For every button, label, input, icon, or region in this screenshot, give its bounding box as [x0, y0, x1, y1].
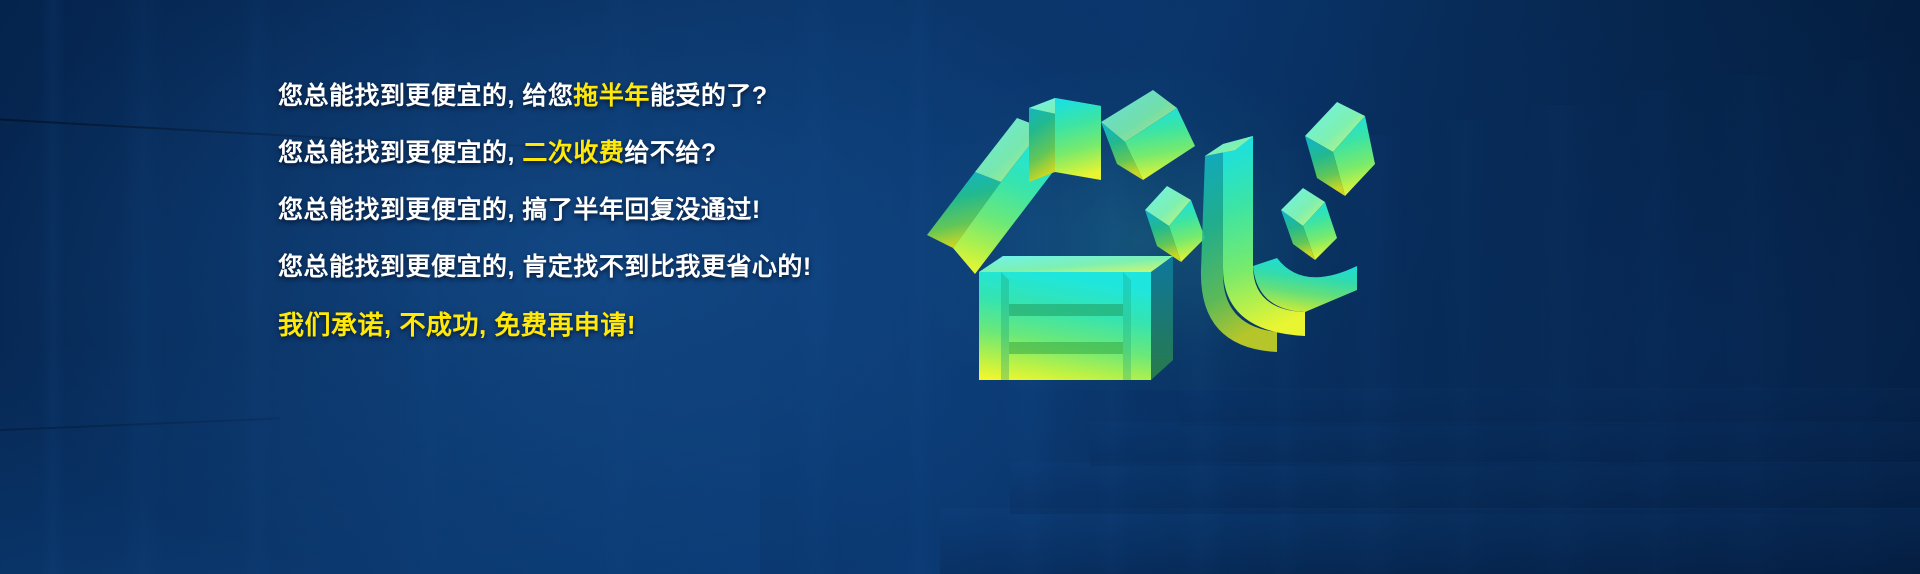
- copy-line-5-promise: 我们承诺, 不成功, 免费再申请!: [278, 312, 918, 338]
- copy-line-1-part-1: 您总能找到更便宜的, 给您: [278, 82, 573, 110]
- copy-line-4-part-1: 您总能找到更便宜的, 肯定找不到比我更省心的!: [278, 253, 812, 281]
- promo-banner: 您总能找到更便宜的, 给您拖半年能受的了? 您总能找到更便宜的, 二次收费给不给…: [0, 0, 1920, 574]
- copy-line-3: 您总能找到更便宜的, 搞了半年回复没通过!: [278, 198, 918, 223]
- copy-line-2-highlight: 二次收费: [522, 139, 624, 167]
- copy-line-2-part-3: 给不给?: [624, 139, 716, 167]
- copy-line-2-part-1: 您总能找到更便宜的,: [278, 139, 522, 167]
- copy-line-2: 您总能找到更便宜的, 二次收费给不给?: [278, 141, 918, 166]
- wordart-shengxin: [905, 60, 1375, 380]
- copy-line-1-highlight: 拖半年: [573, 82, 650, 110]
- copy-line-1-part-3: 能受的了?: [650, 82, 768, 110]
- copy-line-3-part-1: 您总能找到更便宜的, 搞了半年回复没通过!: [278, 196, 761, 224]
- copy-line-1: 您总能找到更便宜的, 给您拖半年能受的了?: [278, 84, 918, 109]
- copy-line-4: 您总能找到更便宜的, 肯定找不到比我更省心的!: [278, 255, 918, 280]
- copy-line-5-part-1: 我们承诺, 不成功, 免费再申请!: [278, 310, 636, 340]
- marketing-copy-block: 您总能找到更便宜的, 给您拖半年能受的了? 您总能找到更便宜的, 二次收费给不给…: [278, 84, 918, 338]
